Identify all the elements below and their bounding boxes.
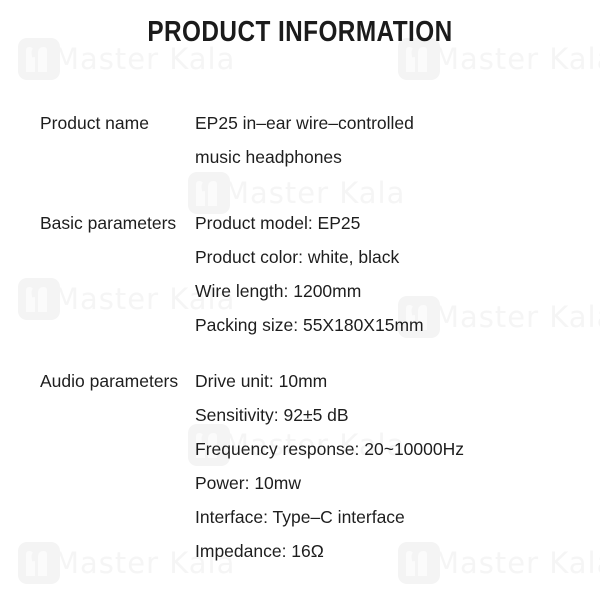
spec-label-product-name: Product name [0, 106, 195, 140]
spec-value-line: Packing size: 55X180X15mm [195, 308, 600, 342]
watermark-text: Master Kala [224, 176, 405, 210]
spec-value-line: Interface: Type–C interface [195, 500, 600, 534]
spec-label-basic-parameters: Basic parameters [0, 206, 195, 240]
spec-value-line: Impedance: 16Ω [195, 534, 600, 568]
spec-value-line: Sensitivity: 92±5 dB [195, 398, 600, 432]
spec-row: Basic parameters Product model: EP25 Pro… [0, 206, 600, 342]
spec-value-line: Product model: EP25 [195, 206, 600, 240]
spec-values-basic-parameters: Product model: EP25 Product color: white… [195, 206, 600, 342]
spec-row: Product name EP25 in–ear wire–controlled… [0, 106, 600, 174]
spec-value-line: Drive unit: 10mm [195, 364, 600, 398]
spec-value-line: Product color: white, black [195, 240, 600, 274]
spec-value-line: Frequency response: 20~10000Hz [195, 432, 600, 466]
page-title: PRODUCT INFORMATION [48, 16, 552, 49]
spec-value-line: Power: 10mw [195, 466, 600, 500]
spec-row: Audio parameters Drive unit: 10mm Sensit… [0, 364, 600, 568]
spec-value-line: Wire length: 1200mm [195, 274, 600, 308]
spec-value-line: music headphones [195, 140, 600, 174]
spec-values-product-name: EP25 in–ear wire–controlled music headph… [195, 106, 600, 174]
spec-label-audio-parameters: Audio parameters [0, 364, 195, 398]
spec-values-audio-parameters: Drive unit: 10mm Sensitivity: 92±5 dB Fr… [195, 364, 600, 568]
spec-value-line: EP25 in–ear wire–controlled [195, 106, 600, 140]
